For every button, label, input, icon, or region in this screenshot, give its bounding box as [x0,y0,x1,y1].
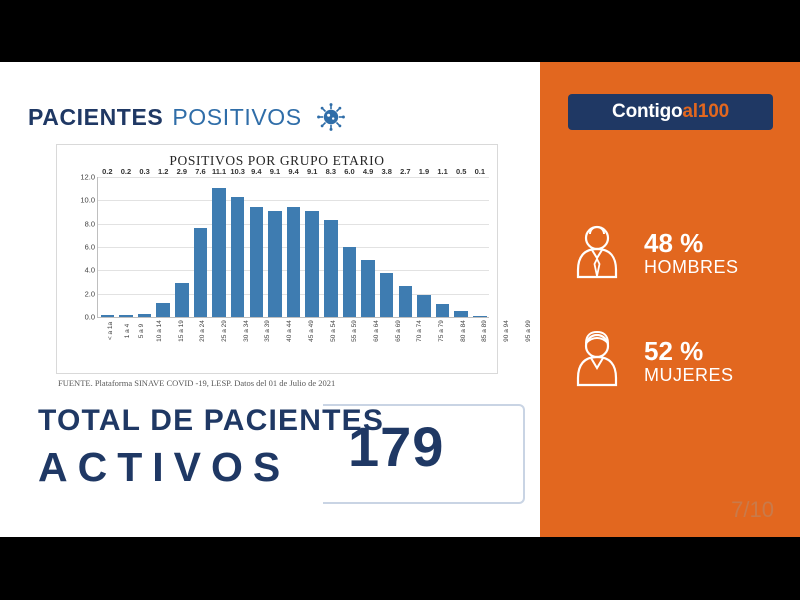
bar-value-label: 4.9 [363,167,373,176]
stat-women-text: 52 % MUJERES [644,338,734,386]
bar-value-label: 7.6 [195,167,205,176]
bar-value-label: 9.4 [251,167,261,176]
bar: 1.9 [417,295,430,317]
x-tick: 80 a 84 [449,321,471,339]
bar-item: 9.4 [247,177,266,317]
bar: 7.6 [194,228,207,317]
left-panel: PACIENTES POSITIVOS [0,62,540,537]
x-tick: 20 a 24 [189,321,211,339]
bar-value-label: 8.3 [326,167,336,176]
x-tick: 35 a 39 [254,321,276,339]
x-tick: 65 a 69 [384,321,406,339]
y-tick: 4.0 [85,266,95,275]
bar-item: 2.7 [396,177,415,317]
brand-logo: Contigo al100 [568,94,773,130]
x-tick: < a 1a [98,321,116,339]
y-tick: 10.0 [80,196,95,205]
bar-value-label: 0.1 [475,167,485,176]
chart-card: POSITIVOS POR GRUPO ETARIO 0.02.04.06.08… [56,144,498,374]
right-panel: Contigo al100 48 % HOMBRES [540,62,800,537]
page-title: PACIENTES POSITIVOS [28,102,346,132]
total-label-line2: ACTIVOS [38,444,290,491]
male-avatar-icon [568,221,626,288]
bar: 1.1 [436,304,449,317]
y-tick: 12.0 [80,173,95,182]
total-label-line1: TOTAL DE PACIENTES [38,404,384,438]
y-tick: 0.0 [85,313,95,322]
x-tick: 10 a 14 [145,321,167,339]
stat-men: 48 % HOMBRES [568,214,778,294]
x-tick: 5 a 9 [131,321,145,339]
logo-text-secondary: al100 [682,101,729,123]
x-tick: 95 a 99 [514,321,536,339]
bar-value-label: 6.0 [344,167,354,176]
bar-value-label: 0.2 [102,167,112,176]
chart-bars: 0.20.20.31.22.97.611.110.39.49.19.49.18.… [98,177,489,317]
bar-value-label: 1.9 [419,167,429,176]
bar-item: 0.5 [452,177,471,317]
bar: 4.9 [361,260,374,317]
bar: 2.9 [175,283,188,317]
x-tick: 30 a 34 [232,321,254,339]
bar-item: 0.2 [98,177,117,317]
total-value: 179 [348,414,444,479]
total-block: TOTAL DE PACIENTES ACTIVOS 179 [28,396,518,514]
bar-value-label: 0.2 [121,167,131,176]
bar-item: 9.4 [284,177,303,317]
title-bold: PACIENTES [28,104,163,131]
bar-value-label: 10.3 [230,167,245,176]
stat-women-percent: 52 % [644,338,734,365]
bar-value-label: 0.3 [139,167,149,176]
stat-men-percent: 48 % [644,230,739,257]
bar-value-label: 9.1 [270,167,280,176]
x-tick: 25 a 29 [210,321,232,339]
bar: 6.0 [343,247,356,317]
bar-item: 10.3 [228,177,247,317]
page-number: 7/10 [731,497,774,523]
bar: 1.2 [156,303,169,317]
source-note: FUENTE. Plataforma SINAVE COVID -19, LES… [58,378,335,388]
bar: 0.5 [454,311,467,317]
bar-item: 3.8 [377,177,396,317]
logo-text-primary: Contigo [612,101,682,123]
bar-value-label: 9.4 [288,167,298,176]
bar-item: 4.9 [359,177,378,317]
female-avatar-icon [568,329,626,396]
bar-item: 1.1 [433,177,452,317]
bar: 9.4 [250,207,263,317]
bar: 0.2 [101,315,114,317]
x-tick: 70 a 74 [405,321,427,339]
stat-men-label: HOMBRES [644,257,739,278]
bar-value-label: 2.7 [400,167,410,176]
bar: 9.4 [287,207,300,317]
bar-item: 6.0 [340,177,359,317]
slide: PACIENTES POSITIVOS [0,62,800,537]
x-tick: 60 a 64 [362,321,384,339]
x-tick: 15 a 19 [167,321,189,339]
bar: 2.7 [399,286,412,318]
x-axis: < a 1a1 a 45 a 910 a 1415 a 1920 a 2425 … [98,321,489,339]
y-tick: 6.0 [85,243,95,252]
bar-item: 7.6 [191,177,210,317]
bar: 3.8 [380,273,393,317]
bar-item: 8.3 [322,177,341,317]
bar-item: 1.2 [154,177,173,317]
bar-value-label: 1.2 [158,167,168,176]
y-tick: 2.0 [85,289,95,298]
bar-value-label: 0.5 [456,167,466,176]
bar: 9.1 [305,211,318,317]
bar-item: 9.1 [266,177,285,317]
bar: 8.3 [324,220,337,317]
bar-item: 0.2 [117,177,136,317]
bar-value-label: 1.1 [437,167,447,176]
bar: 0.3 [138,314,151,318]
bar: 0.1 [473,316,486,317]
bar-item: 11.1 [210,177,229,317]
x-tick: 1 a 4 [116,321,130,339]
stat-women: 52 % MUJERES [568,322,778,402]
x-tick: 85 a 89 [471,321,493,339]
bar: 0.2 [119,315,132,317]
bar-item: 1.9 [415,177,434,317]
bar-value-label: 3.8 [381,167,391,176]
chart-plot-area: 0.02.04.06.08.010.012.0 0.20.20.31.22.97… [57,173,497,373]
bar-value-label: 9.1 [307,167,317,176]
x-tick: 55 a 59 [340,321,362,339]
bar: 9.1 [268,211,281,317]
bar-item: 0.1 [471,177,490,317]
x-tick: 90 a 94 [492,321,514,339]
bar-item: 0.3 [135,177,154,317]
bar-item: 9.1 [303,177,322,317]
x-tick: 40 a 44 [275,321,297,339]
slide-stage: PACIENTES POSITIVOS [0,0,800,600]
stat-men-text: 48 % HOMBRES [644,230,739,278]
title-light: POSITIVOS [172,104,301,131]
y-tick: 8.0 [85,219,95,228]
x-tick: 50 a 54 [319,321,341,339]
x-tick: 45 a 49 [297,321,319,339]
stat-women-label: MUJERES [644,365,734,386]
bar-item: 2.9 [173,177,192,317]
virus-icon [316,102,346,132]
bar-value-label: 2.9 [177,167,187,176]
bar-value-label: 11.1 [212,167,226,176]
y-axis: 0.02.04.06.08.010.012.0 [65,177,95,317]
bar: 10.3 [231,197,244,317]
x-tick: 75 a 79 [427,321,449,339]
bar: 11.1 [212,188,225,318]
